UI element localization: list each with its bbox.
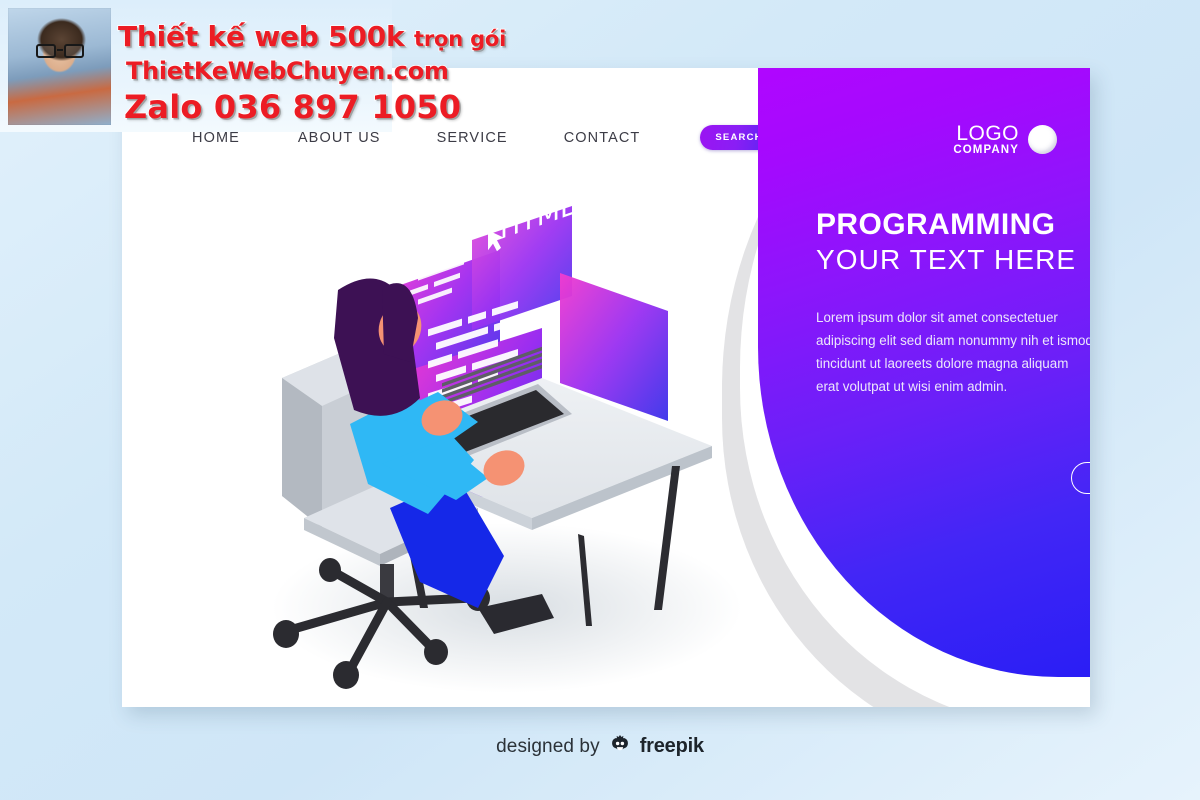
logo-circle-icon xyxy=(1028,125,1057,154)
main-navigation: HOME ABOUT US SERVICE CONTACT SEARCH xyxy=(192,125,793,150)
more-info-button[interactable]: MORE INFO xyxy=(1071,462,1090,494)
search-button-label: SEARCH xyxy=(715,132,762,143)
nav-item-about-us[interactable]: ABOUT US xyxy=(298,130,381,146)
watermark-person-photo xyxy=(8,8,111,125)
logo-lockup[interactable]: LOGO COMPANY xyxy=(953,123,1057,157)
freepik-face-icon xyxy=(609,733,631,760)
hero-subtitle: YOUR TEXT HERE xyxy=(816,246,1076,274)
freepik-attribution: designed by freepik xyxy=(0,733,1200,760)
footer-designed-by-text: designed by xyxy=(496,736,600,758)
logo-company-word: COMPANY xyxy=(953,145,1019,157)
logo-text: LOGO COMPANY xyxy=(953,123,1019,157)
illustration-svg: HTML xyxy=(242,178,772,698)
watermark-line-1: Thiết kế web 500k trọn gói xyxy=(118,20,506,53)
landing-page-card: HTML xyxy=(122,68,1090,707)
nav-item-service[interactable]: SERVICE xyxy=(437,130,508,146)
nav-item-home[interactable]: HOME xyxy=(192,130,240,146)
watermark-line-1-main: Thiết kế web 500k xyxy=(118,20,404,53)
watermark-line-1-suffix: trọn gói xyxy=(414,27,506,51)
logo-word: LOGO xyxy=(953,123,1019,144)
hero-title: PROGRAMMING xyxy=(816,210,1055,240)
nav-item-contact[interactable]: CONTACT xyxy=(564,130,641,146)
freepik-brand-name: freepik xyxy=(640,735,704,758)
hero-body-text: Lorem ipsum dolor sit amet consectetuer … xyxy=(816,306,1090,398)
isometric-developer-illustration: HTML xyxy=(242,178,772,698)
glasses-icon xyxy=(36,44,84,58)
